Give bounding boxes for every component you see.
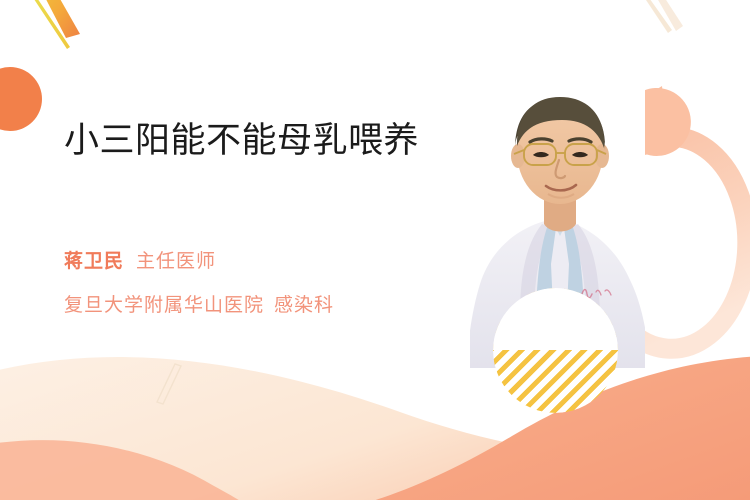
hospital-name: 复旦大学附属华山医院	[64, 295, 264, 316]
striped-circle-top-mask	[493, 288, 618, 350]
doctor-video-cover-card: 小三阳能不能母乳喂养 蒋卫民主任医师 复旦大学附属华山医院感染科	[0, 0, 750, 500]
orange-circle-accent	[0, 67, 42, 131]
faint-outline-sliver	[157, 364, 181, 404]
striped-circle-accent	[493, 288, 618, 413]
byline: 蒋卫民主任医师 复旦大学附属华山医院感染科	[64, 248, 464, 320]
page-title: 小三阳能不能母乳喂养	[64, 118, 424, 164]
ear-left	[511, 144, 525, 168]
wave-light	[0, 357, 750, 500]
byline-row-affiliation: 复旦大学附属华山医院感染科	[64, 292, 464, 321]
faint-stripe-right-b	[650, 0, 683, 31]
byline-row-doctor: 蒋卫民主任医师	[64, 248, 464, 277]
diagonal-stripe-thin	[24, 0, 70, 49]
doctor-name: 蒋卫民	[64, 251, 124, 272]
doctor-title: 主任医师	[136, 251, 216, 272]
department-name: 感染科	[274, 295, 334, 316]
diagonal-stripe-thick	[34, 0, 80, 38]
faint-stripe-right-a	[638, 0, 672, 33]
wave-deep-secondary	[0, 440, 258, 500]
